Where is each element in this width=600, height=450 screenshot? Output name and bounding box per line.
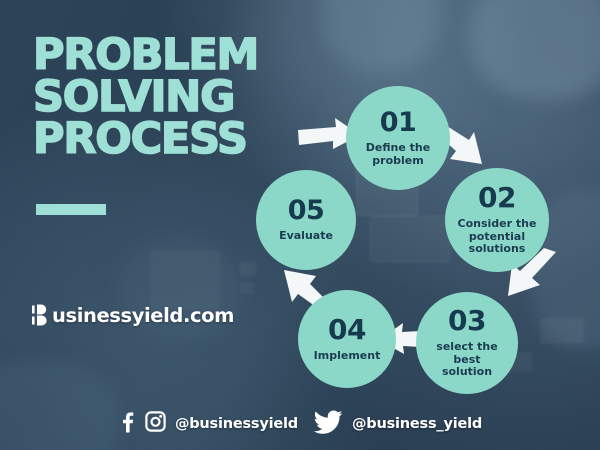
step-number: 01 xyxy=(380,109,417,136)
step-label-line-3: solutions xyxy=(469,242,526,255)
process-step-01[interactable]: 01 Define the problem xyxy=(346,86,450,190)
step-number: 02 xyxy=(478,184,516,212)
title-line-1: PROBLEM xyxy=(33,34,258,76)
title-underline-rule xyxy=(36,204,106,215)
bg-texture-rect xyxy=(150,250,220,310)
step-label: Evaluate xyxy=(271,230,341,243)
brand-logo-text: usinessyield.com xyxy=(52,304,234,327)
facebook-icon[interactable] xyxy=(118,411,136,438)
step-label: Consider the potential solutions xyxy=(450,218,545,257)
step-label: Define the problem xyxy=(358,142,438,168)
step-number: 04 xyxy=(328,316,366,344)
instagram-handle[interactable]: @businessyield xyxy=(175,416,298,432)
step-label-line-2: potential xyxy=(469,230,525,243)
step-label-line-1: Consider the xyxy=(458,217,537,230)
process-step-05[interactable]: 05 Evaluate xyxy=(256,170,356,270)
step-label: select the best solution xyxy=(416,341,518,380)
process-step-02[interactable]: 02 Consider the potential solutions xyxy=(445,168,549,272)
b-monogram-icon xyxy=(32,303,49,327)
bg-texture-blob xyxy=(320,0,440,70)
process-step-03[interactable]: 03 select the best solution xyxy=(416,292,518,394)
step-label: Implement xyxy=(306,350,389,363)
step-label-line-1: select the best xyxy=(436,340,497,366)
social-footer: @businessyield @business_yield xyxy=(0,406,600,442)
process-step-04[interactable]: 04 Implement xyxy=(298,290,396,388)
title-line-2: SOLVING xyxy=(33,76,258,118)
brand-logo: usinessyield.com xyxy=(32,303,234,327)
step-number: 05 xyxy=(288,197,325,224)
title-line-3: PROCESS xyxy=(33,118,258,160)
instagram-icon[interactable] xyxy=(145,411,166,437)
infographic-canvas: PROBLEM SOLVING PROCESS usinessyield.com xyxy=(0,0,600,450)
page-title: PROBLEM SOLVING PROCESS xyxy=(33,34,258,160)
twitter-icon[interactable] xyxy=(313,410,343,439)
step-label-line-2: problem xyxy=(372,154,423,167)
twitter-handle[interactable]: @business_yield xyxy=(352,416,482,432)
step-label-line-2: solution xyxy=(442,365,492,378)
step-label-line-1: Define the xyxy=(366,141,430,154)
process-cycle-diagram: 01 Define the problem 02 Consider the po… xyxy=(240,80,600,400)
step-number: 03 xyxy=(448,307,486,335)
